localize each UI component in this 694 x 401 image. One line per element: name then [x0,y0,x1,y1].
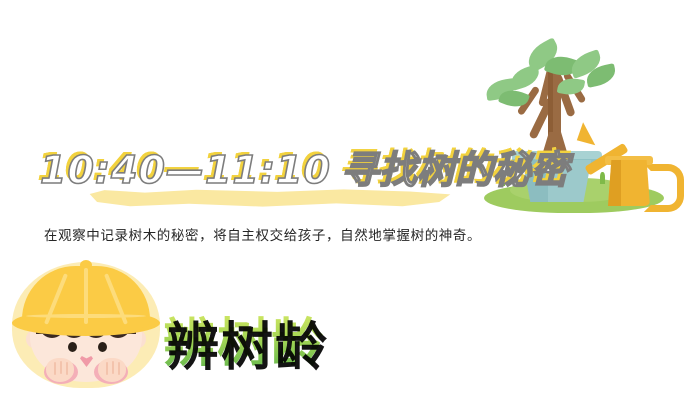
slide-canvas: 10:40—11:10寻找树的秘密 在观察中记录树木的秘密，将自主权交给孩子，自… [0,0,694,401]
finger-line [118,362,120,375]
watering-can-icon [598,148,670,206]
eye-icon [68,342,77,352]
finger-line [112,361,114,374]
page-title: 10:40—11:10寻找树的秘密 [40,148,569,192]
section-heading: 辨树龄 [163,313,325,375]
session-time-range: 10:40—11:10 [40,148,331,192]
finger-line [66,362,68,375]
watering-can-body-shade [608,160,621,206]
finger-line [54,362,56,375]
hand-icon [98,358,126,382]
finger-line [60,361,62,374]
session-heading: 寻找树的秘密 [341,148,569,192]
eye-icon [98,342,107,352]
watering-can-handle [644,164,684,212]
session-description: 在观察中记录树木的秘密，将自主权交给孩子，自然地掌握树的神奇。 [44,224,481,244]
avatar [6,256,166,396]
finger-line [106,362,108,375]
session-title-row: 10:40—11:10寻找树的秘密 [40,146,569,194]
hand-icon [46,358,74,382]
watering-can-nozzle [571,122,596,152]
hat-seam [26,314,146,318]
